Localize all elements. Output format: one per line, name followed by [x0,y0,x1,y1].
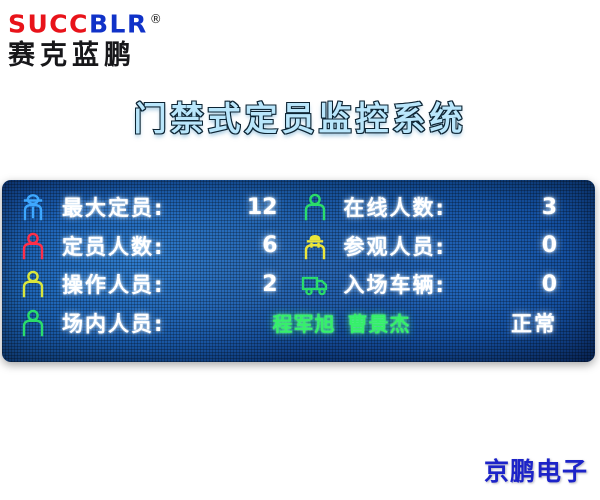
person-icon [300,192,330,222]
person-helmet-icon [300,231,330,261]
person-icon [18,231,48,261]
led-value-quota-count: 6 [262,233,277,258]
status-badge: 正常 [511,308,557,338]
led-cell-vehicle-count: 入场车辆: 0 [300,267,582,301]
led-value-operator-count: 2 [262,272,277,297]
led-cell-operator-count: 操作人员: 2 [18,267,300,301]
led-cell-onsite-values: 程军旭 曹景杰 正常 [254,308,581,338]
led-label-operator-count: 操作人员: [62,269,164,299]
led-value-online-count: 3 [542,195,557,220]
person-icon [18,308,48,338]
led-row: 操作人员: 2 入场车辆: 0 [18,267,581,301]
led-label-onsite-personnel: 场内人员: [62,308,164,338]
onsite-person-name-1: 程军旭 [272,308,335,337]
led-label-quota-count: 定员人数: [62,231,164,261]
brand-wordmark-primary: SUCC [8,9,89,38]
led-label-visitor-count: 参观人员: [344,231,446,261]
led-display-panel: 最大定员: 12 在线人数: 3 [2,180,595,362]
led-cell-onsite-label: 场内人员: [18,308,254,338]
led-label-max-capacity: 最大定员: [62,192,164,222]
led-value-visitor-count: 0 [542,233,557,258]
onsite-person-name-2: 曹景杰 [347,308,410,337]
brand-wordmark-chinese: 赛克蓝鹏 [8,39,208,73]
page-title: 门禁式定员监控系统 [0,92,600,140]
brand-logo: SUCCBLR® 赛克蓝鹏 [8,6,208,72]
led-rows-container: 最大定员: 12 在线人数: 3 [18,190,581,340]
registered-trademark-icon: ® [150,12,164,26]
person-icon [18,269,48,299]
led-cell-online-count: 在线人数: 3 [300,190,582,224]
led-row: 最大定员: 12 在线人数: 3 [18,190,581,224]
led-row: 定员人数: 6 参观人员: 0 [18,229,581,263]
led-row-onsite-personnel: 场内人员: 程军旭 曹景杰 正常 [18,306,581,340]
brand-wordmark-secondary: BLR [89,9,148,38]
footer-company-name: 京鹏电子 [484,452,588,488]
led-value-vehicle-count: 0 [542,272,557,297]
led-value-max-capacity: 12 [247,195,278,220]
led-cell-quota-count: 定员人数: 6 [18,229,300,263]
person-cap-icon [18,192,48,222]
led-label-vehicle-count: 入场车辆: [344,269,446,299]
led-label-online-count: 在线人数: [344,192,446,222]
truck-icon [300,269,330,299]
led-cell-visitor-count: 参观人员: 0 [300,229,582,263]
led-cell-max-capacity: 最大定员: 12 [18,190,300,224]
brand-wordmark: SUCCBLR® [8,6,208,37]
